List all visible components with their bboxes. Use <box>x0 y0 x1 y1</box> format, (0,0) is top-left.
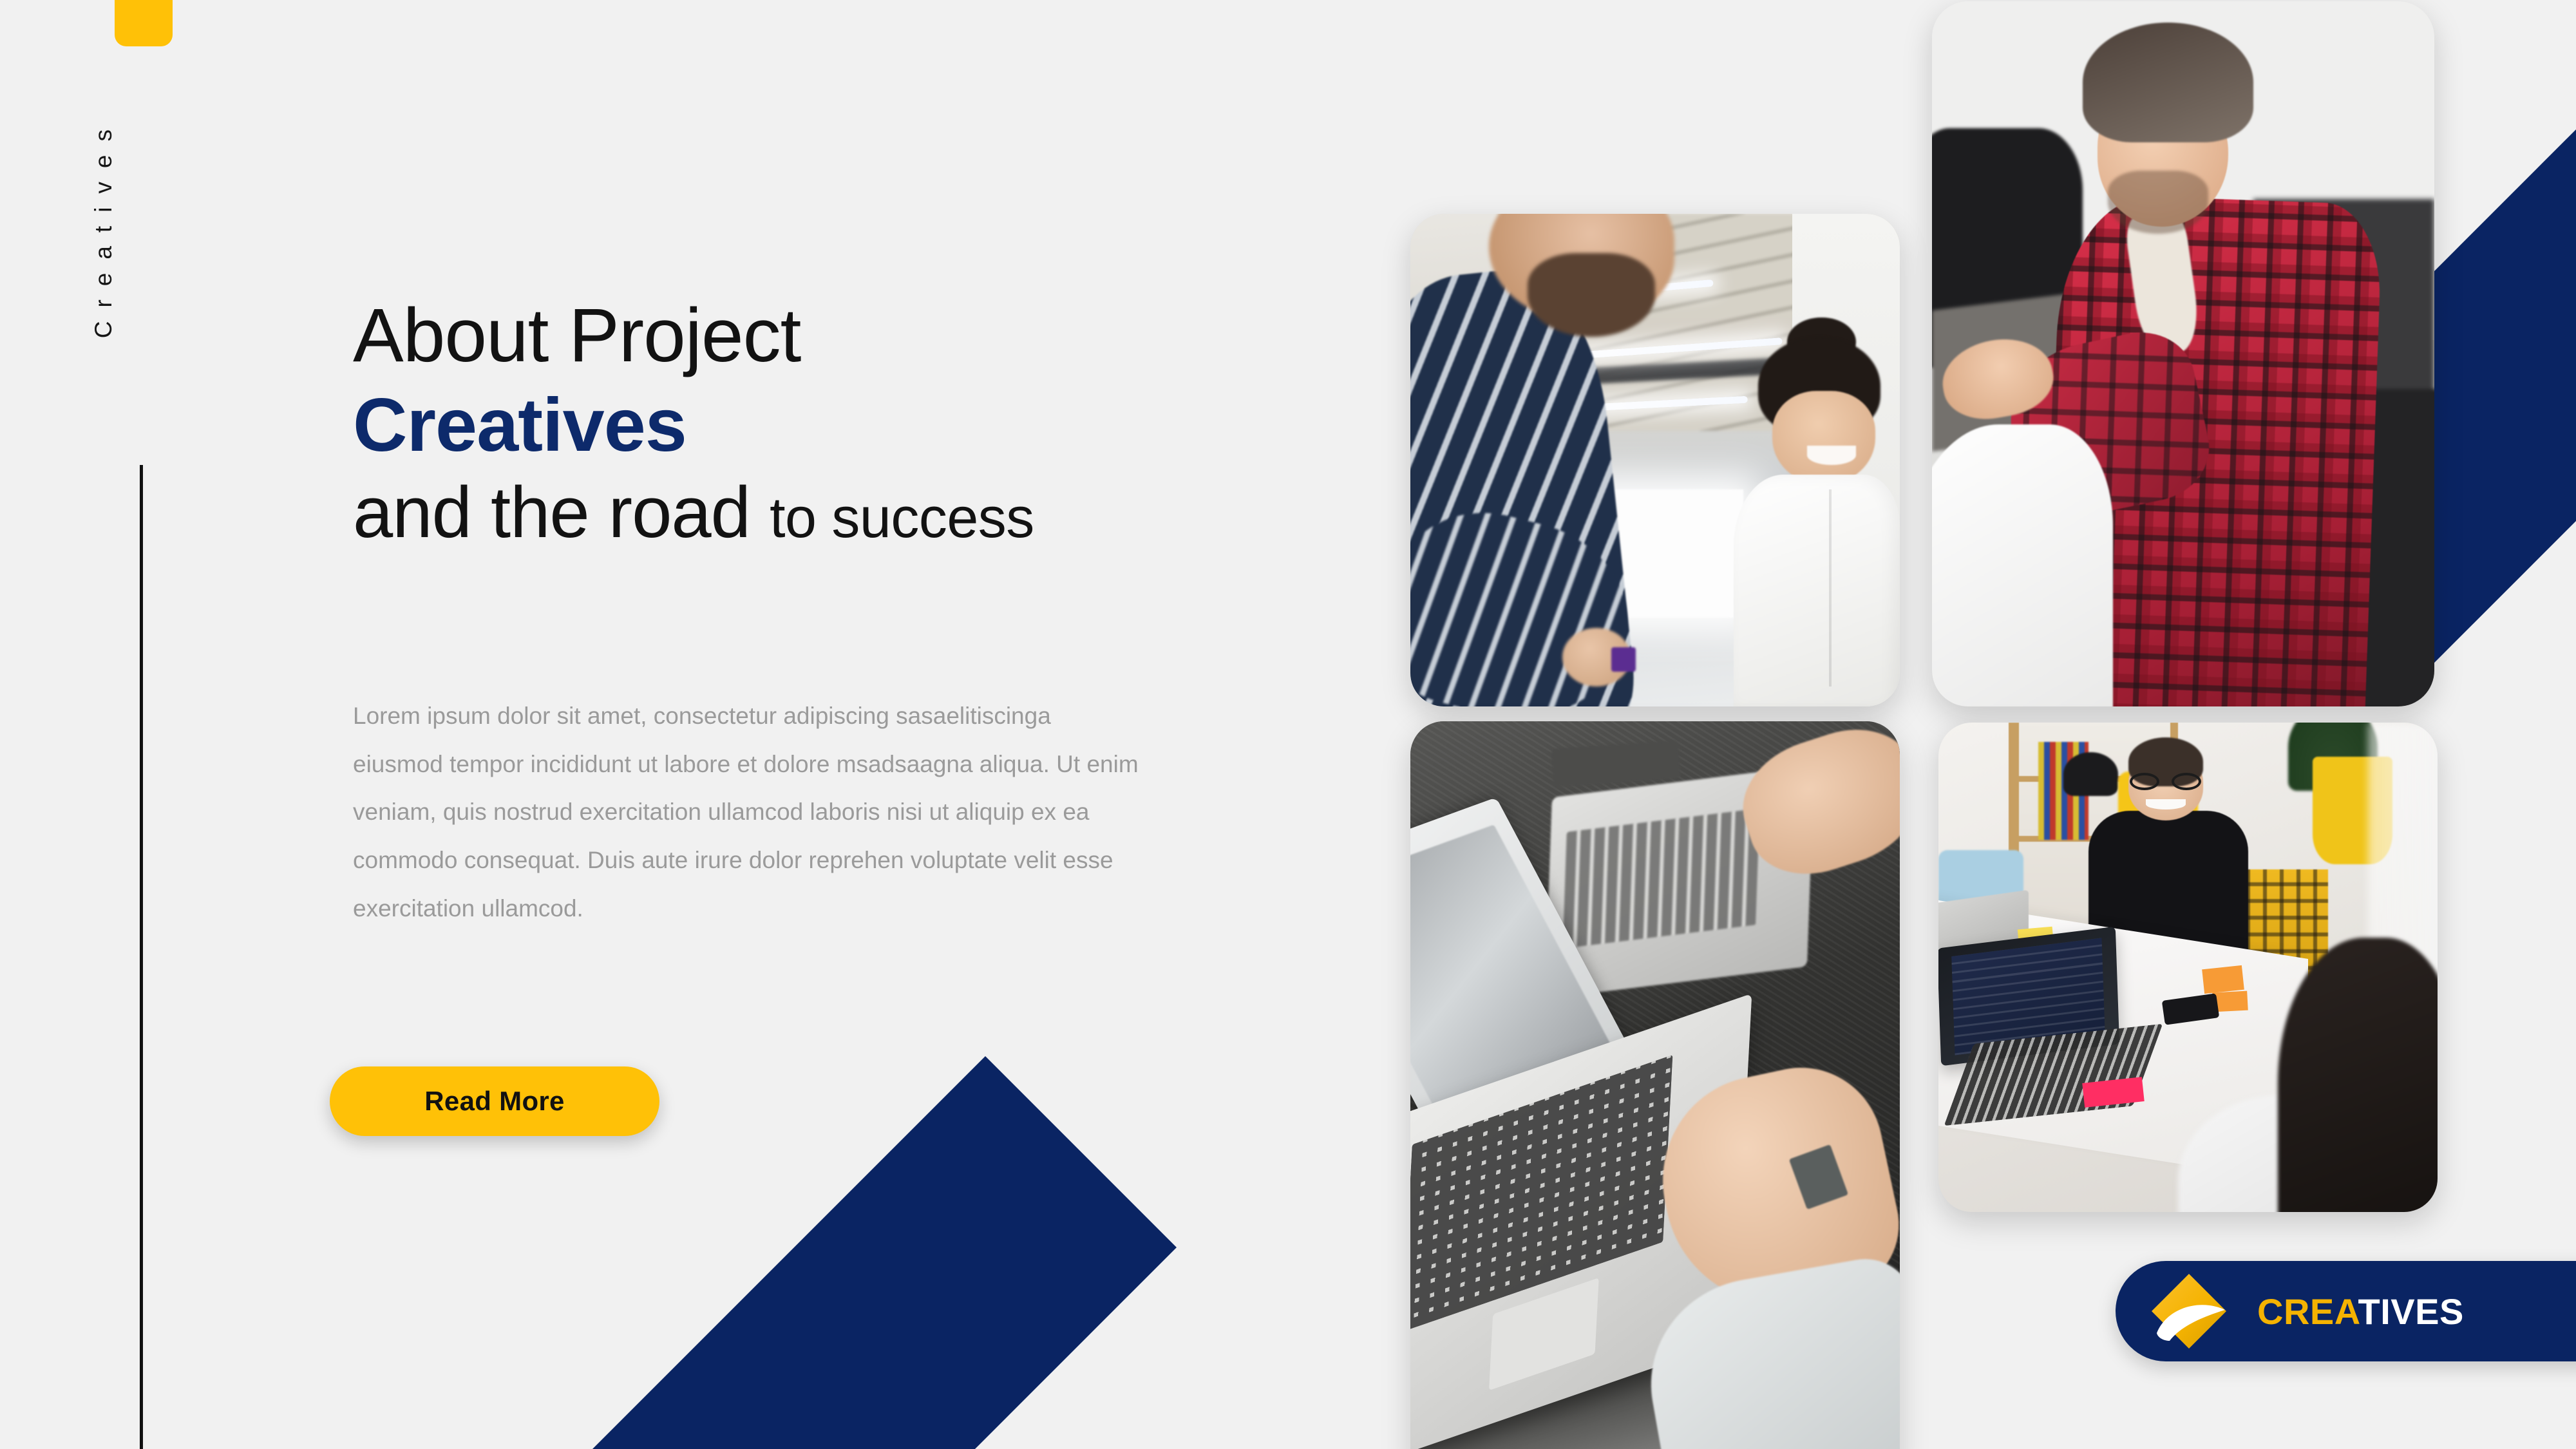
photo-office-colleagues[interactable] <box>1410 214 1900 706</box>
photo-laptop-typing[interactable] <box>1410 721 1900 1449</box>
logo-text-plain: TIVES <box>2358 1291 2464 1332</box>
sidebar-vertical-label: Creatives <box>90 116 206 338</box>
logo-wordmark: CREATIVES <box>2257 1291 2464 1332</box>
photo-man-plaid-shirt-scene <box>1932 1 2434 706</box>
yellow-tab <box>115 0 173 46</box>
slide-root: Creatives About Project Creatives and th… <box>0 0 2576 1449</box>
photo-team-meeting[interactable] <box>1938 723 2438 1212</box>
photo-team-meeting-scene <box>1938 723 2438 1212</box>
vertical-rule <box>140 465 143 1449</box>
photo-office-colleagues-scene <box>1410 214 1900 706</box>
diamond-peel-icon <box>2148 1270 2230 1352</box>
photo-man-plaid-shirt[interactable] <box>1932 1 2434 706</box>
photo-laptop-typing-scene <box>1410 721 1900 1449</box>
photo-collage <box>0 0 2576 1449</box>
creatives-logo[interactable]: CREATIVES <box>2116 1261 2576 1361</box>
logo-text-accent: CREA <box>2257 1291 2358 1332</box>
